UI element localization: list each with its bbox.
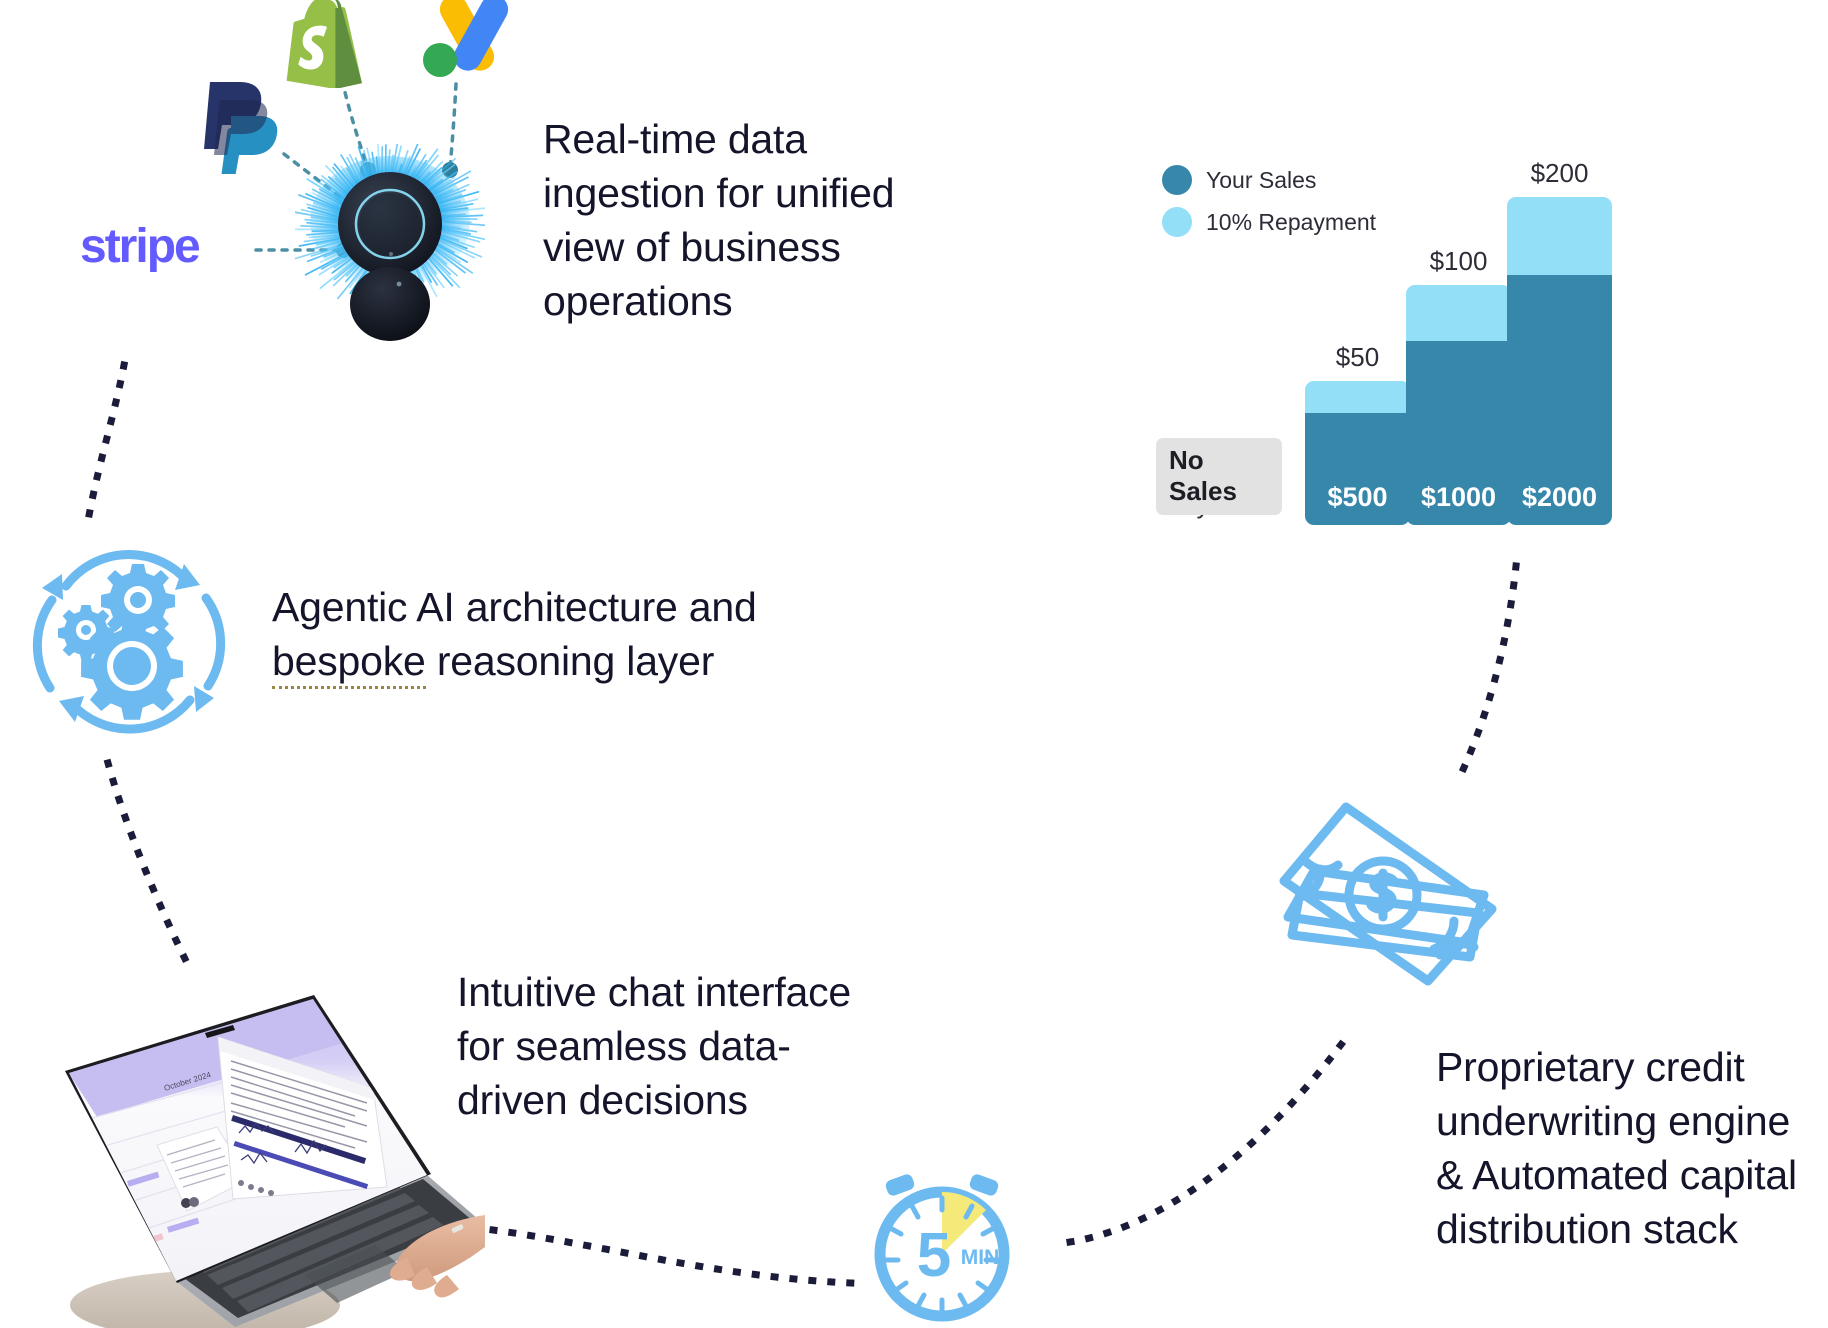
bar-stack-500: $500 <box>1305 381 1410 525</box>
ai-assistant-orb-icon <box>295 144 485 344</box>
sales-repayment-bar-chart: Your Sales 10% Repayment No Payment No S… <box>1150 165 1670 525</box>
legend-swatch-repayment <box>1162 207 1192 237</box>
bar-base-label-2000: $2000 <box>1507 482 1612 513</box>
bar-column-no-sales: No Payment No Sales <box>1150 255 1282 525</box>
legend-label-repayment: 10% Repayment <box>1206 209 1376 236</box>
infographic-canvas: stripe <box>0 0 1828 1328</box>
gears-cycle-icon <box>28 538 228 748</box>
legend-swatch-your-sales <box>1162 165 1192 195</box>
stopwatch-5-min-icon: 5 MIN <box>862 1172 1022 1322</box>
bar-segment-repayment-100 <box>1406 285 1511 341</box>
bar-segment-sales-2000: $2000 <box>1507 275 1612 525</box>
legend-item-repayment: 10% Repayment <box>1162 207 1376 237</box>
bar-base-label-1000: $1000 <box>1406 482 1511 513</box>
path-chat-to-speed <box>485 1215 885 1325</box>
legend-item-your-sales: Your Sales <box>1162 165 1316 195</box>
caption-chat-interface: Intuitive chat interface for seamless da… <box>457 965 887 1127</box>
path-chart-to-credit <box>1450 560 1570 780</box>
paypal-logo-icon <box>190 74 290 174</box>
caption-agentic-part1: Agentic AI architecture and <box>272 584 757 630</box>
caption-data-ingestion: Real-time data ingestion for unified vie… <box>543 112 943 328</box>
bar-column-500: $50 $500 <box>1305 255 1410 525</box>
bar-base-label-500: $500 <box>1305 482 1410 513</box>
bar-stack-2000: $2000 <box>1507 197 1612 525</box>
path-agentic-to-chat <box>80 755 270 985</box>
data-sources-cluster: stripe <box>60 0 520 354</box>
bar-top-label-50: $50 <box>1305 342 1410 373</box>
stopwatch-unit-text: MIN <box>961 1246 1000 1269</box>
caption-credit-underwriting: Proprietary credit underwriting engine &… <box>1436 1040 1816 1256</box>
bar-segment-repayment-50 <box>1305 381 1410 413</box>
stopwatch-number-text: 5 <box>917 1221 951 1290</box>
laptop-chat-photo: October 2024 <box>55 975 485 1328</box>
path-speed-to-credit <box>1060 1030 1360 1260</box>
chart-plot-area: No Payment No Sales $50 $500 $100 <box>1150 255 1670 525</box>
bar-top-label-200: $200 <box>1507 158 1612 189</box>
caption-agentic-spellword: bespoke <box>272 638 426 689</box>
bar-segment-sales-500: $500 <box>1305 413 1410 525</box>
stripe-logo-icon: stripe <box>80 219 250 275</box>
shopify-logo-icon <box>282 0 370 88</box>
cash-stack-icon <box>1270 785 1510 1000</box>
bar-top-label-100: $100 <box>1406 246 1511 277</box>
caption-agentic-part2: reasoning layer <box>426 638 715 684</box>
bar-column-1000: $100 $1000 <box>1406 255 1511 525</box>
google-ads-logo-icon <box>415 0 510 80</box>
caption-agentic-ai: Agentic AI architecture and bespoke reas… <box>272 580 792 688</box>
stripe-wordmark: stripe <box>80 220 199 273</box>
legend-label-your-sales: Your Sales <box>1206 167 1316 194</box>
no-sales-badge: No Sales <box>1156 438 1282 515</box>
path-sources-to-agentic <box>60 355 230 535</box>
bar-segment-sales-1000: $1000 <box>1406 341 1511 525</box>
bar-stack-1000: $1000 <box>1406 285 1511 525</box>
bar-segment-repayment-200 <box>1507 197 1612 275</box>
bar-column-2000: $200 $2000 <box>1507 255 1612 525</box>
